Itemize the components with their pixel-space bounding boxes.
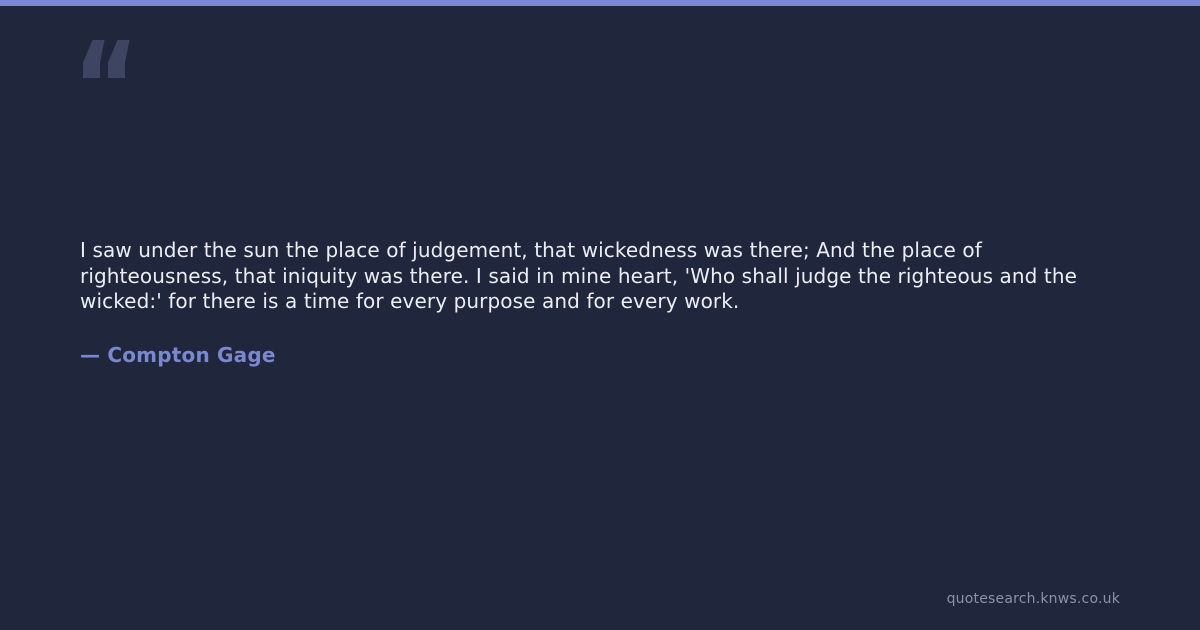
double-quote-open-icon xyxy=(80,38,132,80)
site-url: quotesearch.knws.co.uk xyxy=(947,590,1120,608)
quote-text: I saw under the sun the place of judgeme… xyxy=(80,238,1120,315)
quote-card: I saw under the sun the place of judgeme… xyxy=(0,0,1200,630)
top-accent-bar xyxy=(0,0,1200,6)
quote-author: — Compton Gage xyxy=(80,315,1120,368)
quote-content: I saw under the sun the place of judgeme… xyxy=(80,238,1120,368)
